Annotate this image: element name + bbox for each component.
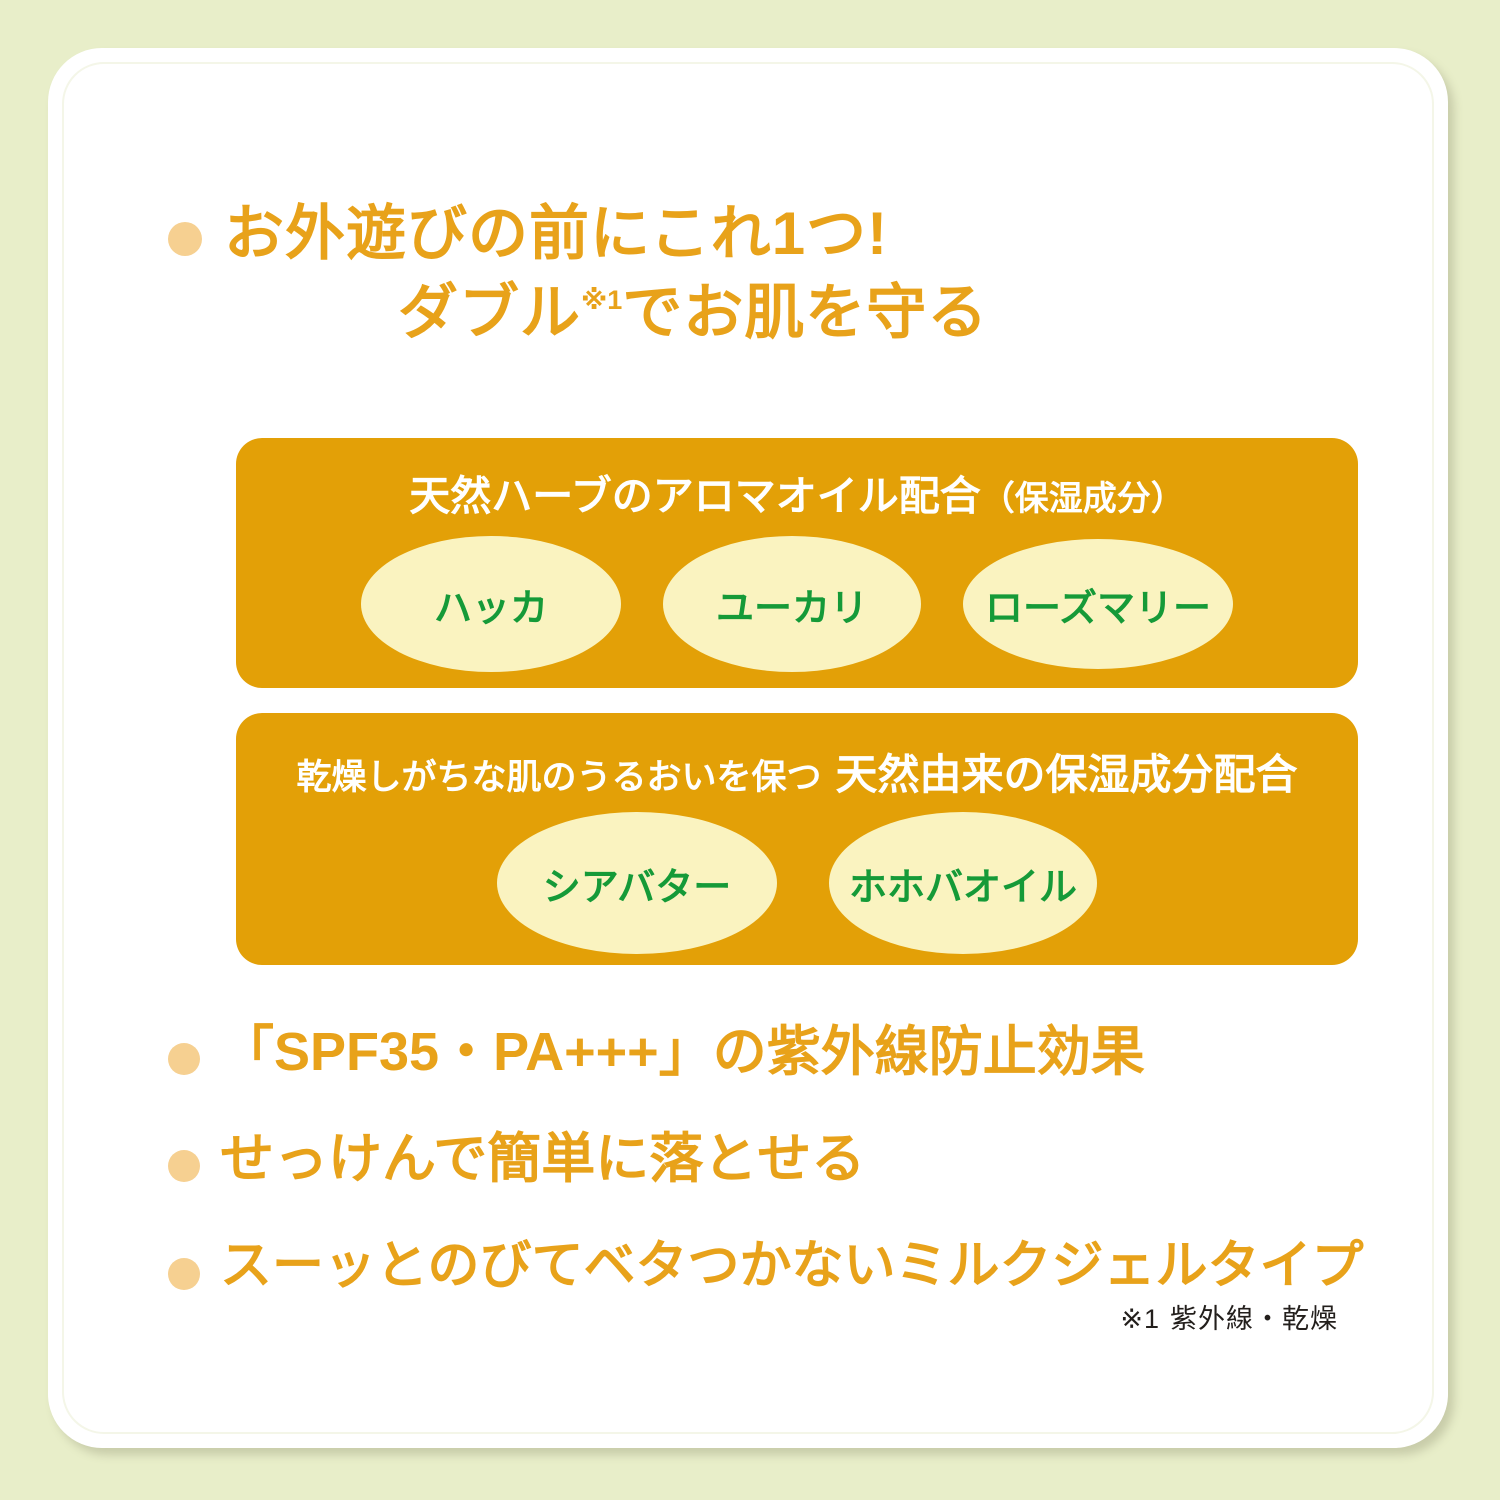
pill-yuukari: ユーカリ [663, 536, 921, 672]
bullet-dot-icon [168, 1258, 200, 1290]
panel-aroma-title-main: 天然ハーブのアロマオイル配合 [409, 473, 981, 519]
panel-moisturizing: 乾燥しがちな肌のうるおいを保つ天然由来の保湿成分配合 シアバター ホホバオイル [236, 713, 1358, 965]
panel-moisture-title: 乾燥しがちな肌のうるおいを保つ天然由来の保湿成分配合 [236, 713, 1358, 802]
feature-text-milk-gel: スーッとのびてベタつかないミルクジェルタイプ [220, 1238, 1363, 1295]
headline-line-2: ダブル※1でお肌を守る [398, 279, 1348, 346]
bullet-dot-icon [168, 1043, 200, 1075]
footnote-text: 紫外線・乾燥 [1170, 1304, 1338, 1334]
footnote-number: ※1 [1120, 1304, 1160, 1334]
feature-item-soap-removable: せっけんで簡単に落とせる [168, 1130, 1418, 1189]
feature-text-spf: 「SPF35・PA+++」の紫外線防止効果 [220, 1023, 1145, 1082]
panel-aroma-pill-row: ハッカ ユーカリ ローズマリー [236, 536, 1358, 672]
headline-block: お外遊びの前にこれ1つ! ダブル※1でお肌を守る [168, 200, 1348, 346]
panel-aroma-oil: 天然ハーブのアロマオイル配合（保湿成分） ハッカ ユーカリ ローズマリー [236, 438, 1358, 688]
headline-line-1-row: お外遊びの前にこれ1つ! [168, 200, 1348, 267]
feature-text-soap-removable: せっけんで簡単に落とせる [220, 1130, 865, 1189]
feature-list: 「SPF35・PA+++」の紫外線防止効果 せっけんで簡単に落とせる スーッとの… [168, 1023, 1418, 1343]
bullet-dot-icon [168, 1150, 200, 1182]
panel-moisture-pill-row: シアバター ホホバオイル [236, 812, 1358, 954]
panel-aroma-title-paren: （保湿成分） [981, 480, 1185, 518]
feature-item-spf: 「SPF35・PA+++」の紫外線防止効果 [168, 1023, 1418, 1082]
footnote-marker-1: ※1 [581, 285, 622, 315]
pill-hakka: ハッカ [361, 536, 621, 672]
footnote: ※1紫外線・乾燥 [1120, 1297, 1338, 1336]
page-root: お外遊びの前にこれ1つ! ダブル※1でお肌を守る 天然ハーブのアロマオイル配合（… [0, 0, 1500, 1500]
content-card: お外遊びの前にこれ1つ! ダブル※1でお肌を守る 天然ハーブのアロマオイル配合（… [48, 48, 1448, 1448]
headline-line-2-before: ダブル [398, 279, 581, 346]
panel-moisture-title-lead: 乾燥しがちな肌のうるおいを保つ [296, 758, 821, 797]
headline-line-2-after: でお肌を守る [622, 279, 988, 346]
feature-item-milk-gel: スーッとのびてベタつかないミルクジェルタイプ [168, 1238, 1418, 1295]
panel-moisture-title-strong: 天然由来の保湿成分配合 [836, 751, 1298, 798]
pill-shea-butter: シアバター [497, 812, 777, 954]
bullet-dot-icon [168, 222, 202, 256]
pill-jojoba-oil: ホホバオイル [829, 812, 1097, 954]
pill-rosemary: ローズマリー [963, 539, 1233, 669]
panel-aroma-title: 天然ハーブのアロマオイル配合（保湿成分） [236, 438, 1358, 522]
headline-line-1: お外遊びの前にこれ1つ! [224, 200, 888, 267]
